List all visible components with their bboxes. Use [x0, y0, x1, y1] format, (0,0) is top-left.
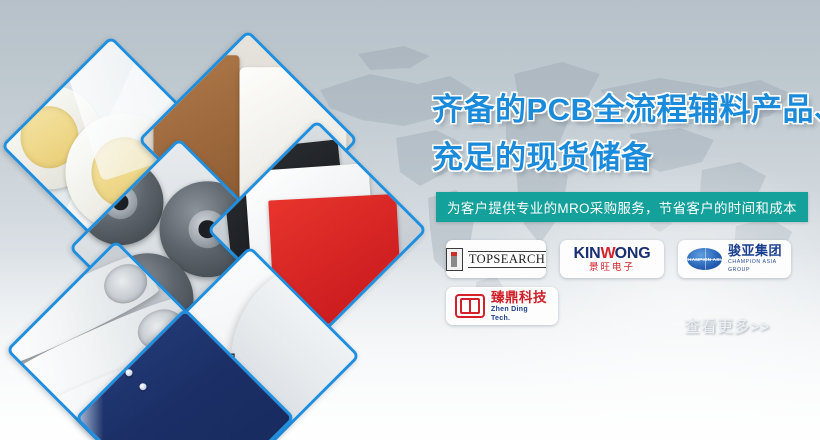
kinwong-text-part-1: KIN [574, 245, 601, 262]
view-more-link[interactable]: 查看更多>> [684, 313, 770, 337]
headline-line-1: 齐备的PCB全流程辅料产品、 [432, 86, 820, 134]
client-logo-topsearch[interactable]: TOPSEARCH [446, 240, 546, 278]
kinwong-logo-text: KINWONG [574, 245, 651, 262]
champion-asia-logo-text-cn: 骏亚集团 [728, 244, 782, 258]
zhen-ding-mark-icon [455, 294, 485, 318]
client-logo-kinwong[interactable]: KINWONG 景旺电子 [560, 240, 664, 278]
kinwong-text-w: W [601, 245, 615, 262]
zhen-ding-text-block: 臻鼎科技 Zhen Ding Tech. [491, 290, 549, 323]
promo-banner: XX JIE 齐备的PCB全流程辅料产品、 充足的现货储备 为客户提供专业的MR… [0, 0, 820, 440]
product-collage: XX JIE [0, 0, 440, 440]
kinwong-text-part-2: ONG [615, 245, 651, 262]
kinwong-logo-subtext: 景旺电子 [589, 262, 635, 274]
client-logo-zhen-ding[interactable]: 臻鼎科技 Zhen Ding Tech. [446, 287, 558, 325]
zhen-ding-logo-text-en: Zhen Ding Tech. [491, 305, 549, 323]
topsearch-logo-text: TOPSEARCH [468, 251, 546, 268]
banner-subtitle-bar: 为客户提供专业的MRO采购服务，节省客户的时间和成本 [436, 192, 808, 222]
banner-subtitle-text: 为客户提供专业的MRO采购服务，节省客户的时间和成本 [447, 197, 797, 217]
champion-asia-globe-icon: CHAMPION ASIA [687, 248, 722, 270]
topsearch-mark-icon [446, 248, 463, 271]
headline-line-2: 充足的现货储备 [432, 134, 820, 182]
zhen-ding-logo-text-cn: 臻鼎科技 [491, 290, 549, 305]
champion-asia-text-block: 骏亚集团 CHAMPION ASIA GROUP [728, 244, 782, 274]
champion-asia-logo-text-en: CHAMPION ASIA GROUP [728, 258, 782, 274]
client-logo-champion-asia[interactable]: CHAMPION ASIA 骏亚集团 CHAMPION ASIA GROUP [678, 240, 791, 278]
champion-asia-globe-text: CHAMPION ASIA [687, 257, 722, 262]
client-logos-row-1: TOPSEARCH KINWONG 景旺电子 CHAMPION ASIA 骏亚集… [446, 240, 806, 278]
banner-headline: 齐备的PCB全流程辅料产品、 充足的现货储备 [432, 86, 820, 182]
